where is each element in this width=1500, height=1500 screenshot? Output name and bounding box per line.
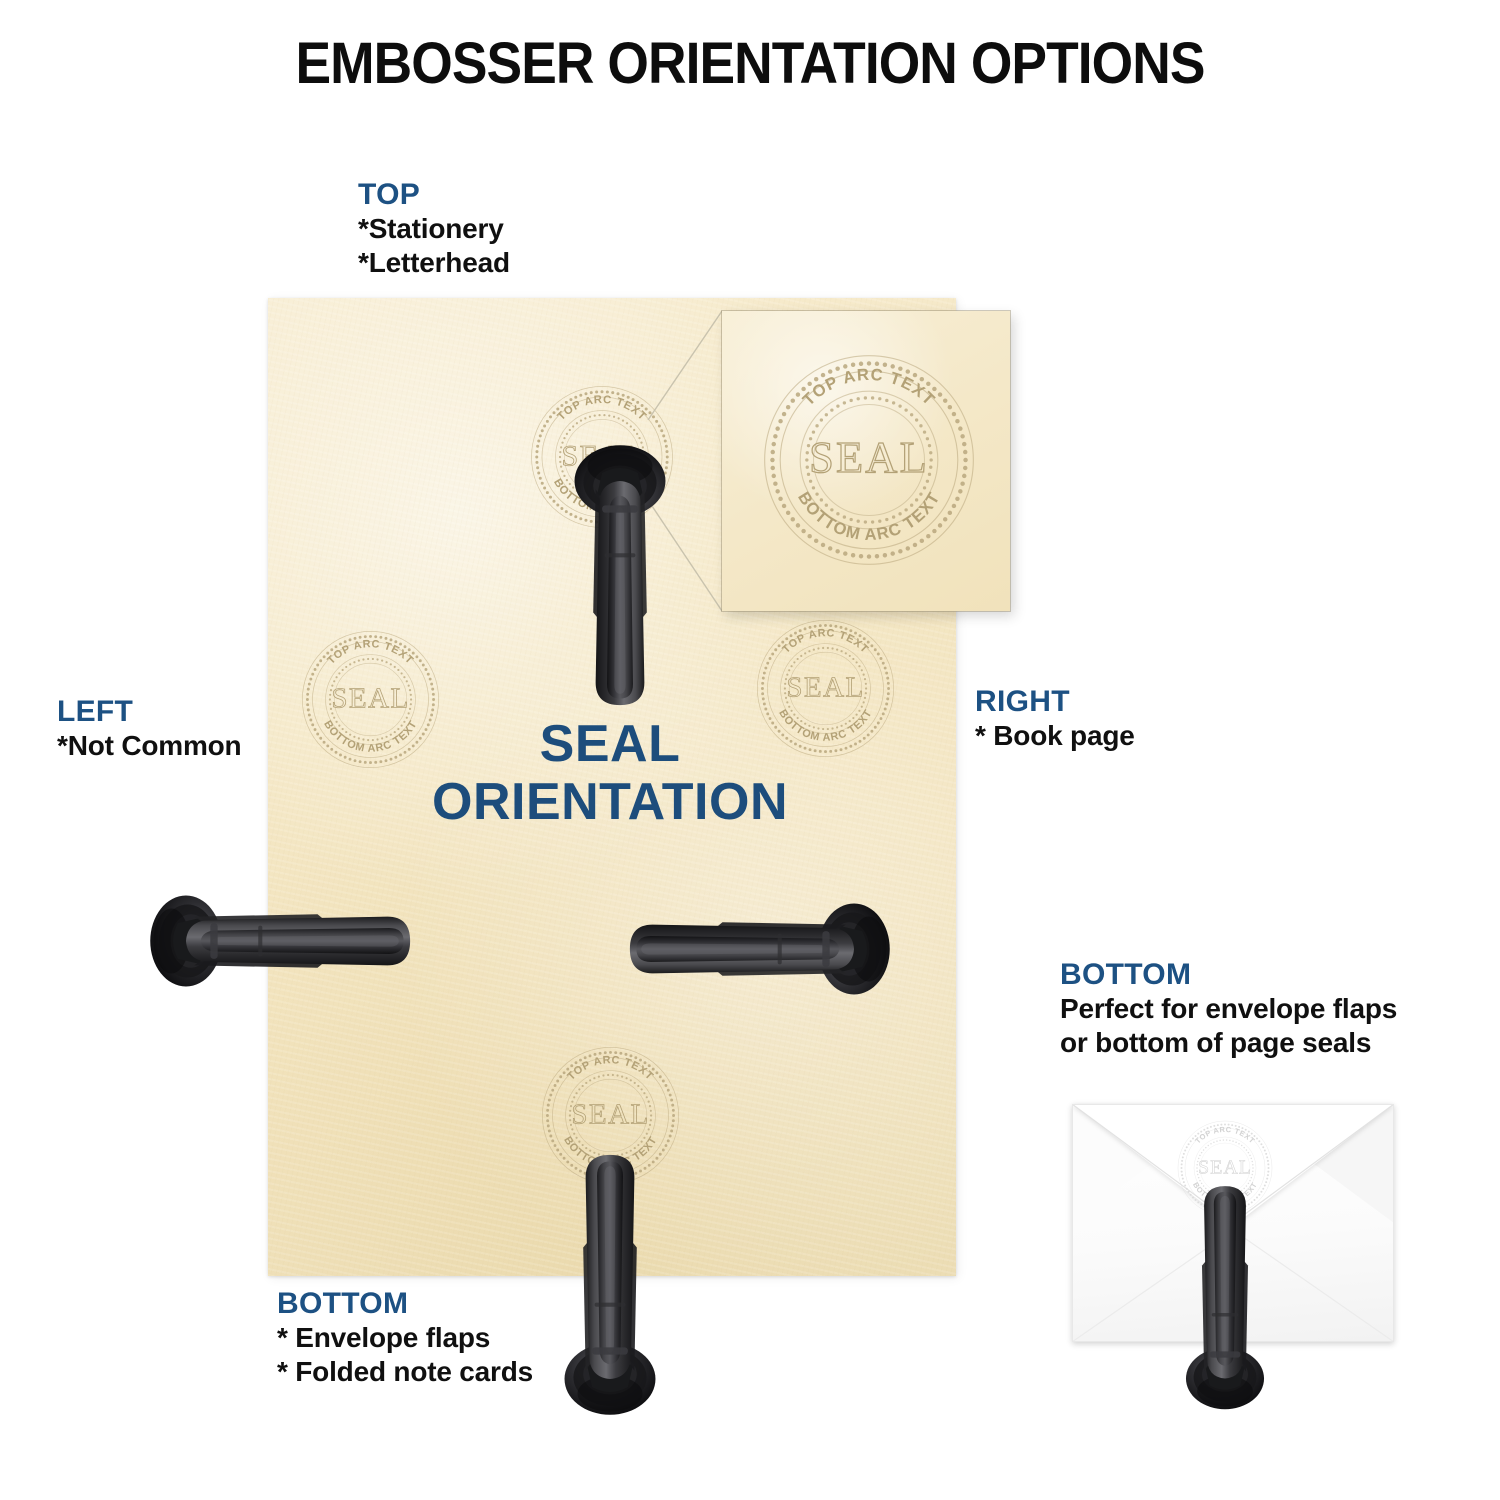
label-bottom-envelope-line-1: or bottom of page seals — [1060, 1026, 1397, 1060]
label-left-heading: LEFT — [57, 695, 241, 729]
label-left-line-0: *Not Common — [57, 729, 241, 763]
center-caption-line1: SEAL — [540, 715, 681, 773]
label-bottom-paper-heading: BOTTOM — [277, 1287, 533, 1321]
label-right-heading: RIGHT — [975, 685, 1135, 719]
label-left: LEFT *Not Common — [57, 695, 241, 763]
center-caption-line2: ORIENTATION — [330, 773, 890, 831]
label-bottom-paper-line-1: * Folded note cards — [277, 1355, 533, 1389]
embosser-top[interactable] — [549, 150, 647, 418]
label-right: RIGHT * Book page — [975, 685, 1135, 753]
label-bottom-paper-line-0: * Envelope flaps — [277, 1321, 533, 1355]
label-bottom-envelope-heading: BOTTOM — [1060, 958, 1397, 992]
embosser-envelope[interactable] — [1183, 1182, 1267, 1412]
label-bottom-envelope-line-0: Perfect for envelope flaps — [1060, 992, 1397, 1026]
label-top-line-1: *Letterhead — [358, 246, 510, 280]
label-bottom-paper: BOTTOM * Envelope flaps * Folded note ca… — [277, 1287, 533, 1389]
label-top-line-0: *Stationery — [358, 212, 510, 246]
center-caption: SEAL ORIENTATION — [330, 715, 890, 831]
svg-text:SEAL: SEAL — [809, 432, 929, 482]
page-title: EMBOSSER ORIENTATION OPTIONS — [60, 30, 1440, 97]
magnified-seal-panel: TOP ARC TEXT BOTTOM ARC TEXT SEAL — [722, 311, 1010, 611]
diagram-canvas: EMBOSSER ORIENTATION OPTIONS TOP ARC TEX… — [0, 0, 1500, 1500]
embosser-right[interactable] — [845, 658, 943, 926]
svg-text:TOP ARC TEXT: TOP ARC TEXT — [799, 365, 939, 410]
label-right-line-0: * Book page — [975, 719, 1135, 753]
label-top: TOP *Stationery *Letterhead — [358, 178, 510, 280]
embosser-bottom[interactable] — [561, 1150, 659, 1418]
seal-impression-magnified: TOP ARC TEXT BOTTOM ARC TEXT SEAL — [758, 349, 980, 571]
label-top-heading: TOP — [358, 178, 510, 212]
label-bottom-envelope: BOTTOM Perfect for envelope flaps or bot… — [1060, 958, 1397, 1060]
svg-text:BOTTOM ARC TEXT: BOTTOM ARC TEXT — [794, 488, 944, 544]
